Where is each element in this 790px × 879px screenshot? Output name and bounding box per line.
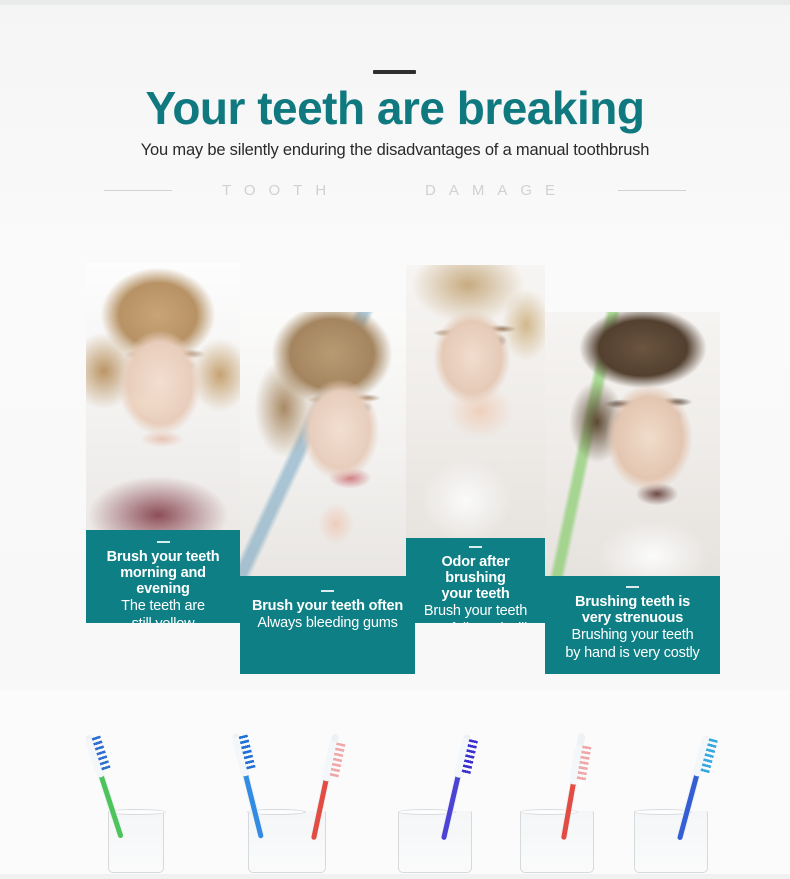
- caption-sub-line1: Brushing your teeth: [551, 627, 714, 644]
- caption-title-line2: your teeth: [412, 586, 539, 602]
- caption-sub-line1: Brush your teeth: [412, 603, 539, 620]
- caption-strenuous: Brushing teeth is very strenuous Brushin…: [545, 576, 720, 674]
- photo-man-brushing: [545, 312, 720, 576]
- toothbrush-band: [0, 690, 790, 879]
- photo-woman-grimacing: [86, 263, 240, 530]
- caption-sub-line2: carefully and still: [412, 621, 539, 623]
- panel-bad-odor[interactable]: Odor after brushing your teeth Brush you…: [406, 265, 545, 623]
- caption-title-line1: Odor after brushing: [412, 554, 539, 586]
- caption-bad-odor: Odor after brushing your teeth Brush you…: [406, 538, 545, 623]
- caption-bleeding-gums: Brush your teeth often Always bleeding g…: [240, 576, 415, 674]
- caption-dash-icon: [321, 590, 334, 592]
- photo-woman-covering-mouth: [406, 265, 545, 538]
- caption-title-line2: morning and evening: [92, 565, 234, 597]
- product-page: Your teeth are breaking You may be silen…: [0, 0, 790, 879]
- band-base-line: [0, 874, 790, 879]
- caption-dash-icon: [626, 586, 639, 588]
- caption-sub-line2: by hand is very costly: [551, 645, 714, 662]
- panel-strenuous[interactable]: Brushing teeth is very strenuous Brushin…: [545, 312, 720, 674]
- caption-dash-icon: [469, 546, 482, 548]
- photo-woman-gums: [240, 312, 415, 576]
- caption-yellow-teeth: Brush your teeth morning and evening The…: [86, 530, 240, 623]
- panel-yellow-teeth[interactable]: Brush your teeth morning and evening The…: [86, 263, 240, 623]
- caption-sub-line1: The teeth are: [92, 598, 234, 615]
- caption-sub-line1: Always bleeding gums: [246, 615, 409, 632]
- panel-bleeding-gums[interactable]: Brush your teeth often Always bleeding g…: [240, 312, 415, 674]
- glass-cup: [520, 811, 594, 873]
- caption-title-line1: Brush your teeth: [92, 549, 234, 565]
- glass-cup: [398, 811, 472, 873]
- glass-cup: [634, 811, 708, 873]
- caption-title-line1: Brushing teeth is: [551, 594, 714, 610]
- caption-title-line1: Brush your teeth often: [246, 598, 409, 614]
- caption-dash-icon: [157, 541, 170, 543]
- caption-sub-line2: still yellow: [92, 616, 234, 623]
- caption-title-line2: very strenuous: [551, 610, 714, 626]
